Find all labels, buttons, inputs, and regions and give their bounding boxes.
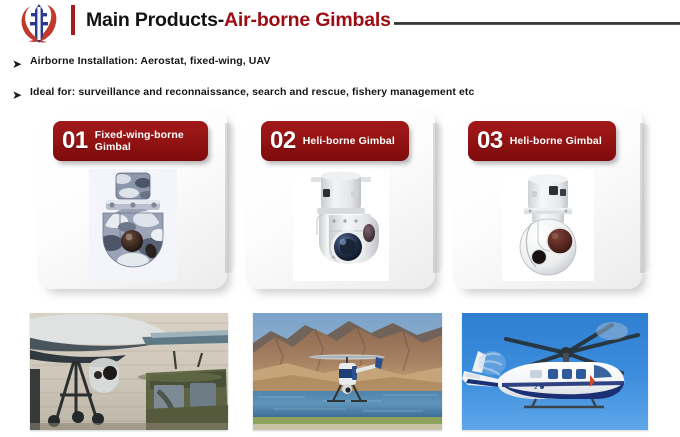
list-item: ➤ Airborne Installation: Aerostat, fixed…	[0, 54, 680, 76]
slide-header: Main Products-Air-borne Gimbals	[0, 0, 680, 48]
product-card-02[interactable]: 02 Heli-borne Gimbal	[245, 107, 435, 289]
blue-white-helicopter-photo: 2	[462, 313, 648, 430]
card-number: 01	[62, 129, 88, 153]
product-card-row: 01 Fixed-wing-borne Gimbal	[0, 107, 680, 297]
card-badge-03: 03 Heli-borne Gimbal	[468, 121, 616, 161]
product-card-03[interactable]: 03 Heli-borne Gimbal	[452, 107, 642, 289]
card-badge-02: 02 Heli-borne Gimbal	[261, 121, 409, 161]
page-title-accent: Air-borne Gimbals	[224, 9, 391, 31]
title-accent-bar	[71, 5, 75, 35]
camouflage-gimbal-photo	[89, 169, 177, 281]
arrow-bullet-icon: ➤	[12, 56, 22, 72]
slide-root: Main Products-Air-borne Gimbals ➤ Airbor…	[0, 0, 680, 437]
product-card-01[interactable]: 01 Fixed-wing-borne Gimbal	[37, 107, 227, 289]
company-tower-logo-icon	[17, 2, 61, 46]
white-round-gimbal-photo	[502, 169, 594, 281]
arrow-bullet-icon: ➤	[12, 87, 22, 103]
card-label: Heli-borne Gimbal	[303, 135, 395, 148]
bullet-text: Airborne Installation: Aerostat, fixed-w…	[30, 55, 271, 67]
list-item: ➤ Ideal for: surveillance and reconnaiss…	[0, 85, 680, 107]
card-number: 03	[477, 129, 503, 153]
card-number: 02	[270, 129, 296, 153]
card-label: Fixed-wing-borne Gimbal	[95, 129, 197, 154]
unmanned-helicopter-over-water-photo	[253, 313, 442, 430]
svg-text:2: 2	[534, 384, 538, 391]
photo-row: 2	[0, 313, 680, 433]
card-label: Heli-borne Gimbal	[510, 135, 602, 148]
title-divider-rule	[394, 22, 680, 25]
uav-drone-with-gimbal-photo	[30, 313, 228, 430]
white-gimbal-photo	[293, 169, 389, 281]
card-badge-01: 01 Fixed-wing-borne Gimbal	[53, 121, 208, 161]
bullet-text: Ideal for: surveillance and reconnaissan…	[30, 86, 474, 98]
page-title: Main Products-Air-borne Gimbals	[86, 6, 391, 34]
page-title-primary: Main Products-	[86, 9, 224, 31]
